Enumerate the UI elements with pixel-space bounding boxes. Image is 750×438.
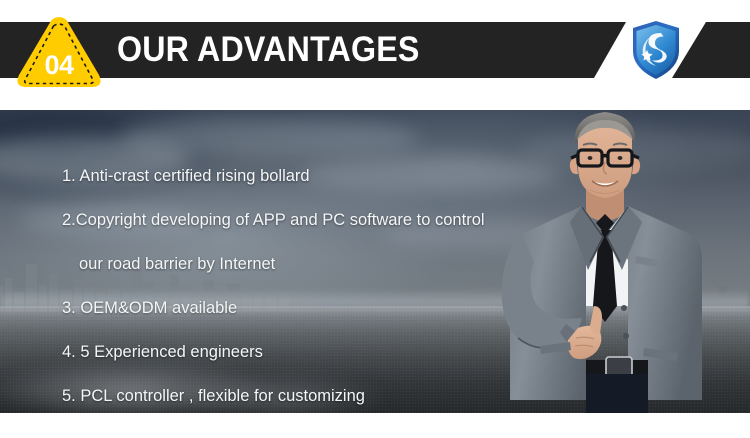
advantages-banner: OUR ADVANTAGES 04: [0, 0, 750, 438]
banner-header: OUR ADVANTAGES 04: [0, 0, 750, 110]
cloud-streak: [120, 118, 420, 158]
badge-number-text: 04: [14, 13, 104, 89]
advantages-list: 1. Anti-crast certified rising bollard 2…: [62, 154, 532, 413]
header-black-shard: [672, 22, 750, 78]
section-number-badge: 04: [14, 13, 104, 89]
list-item: 4. 5 Experienced engineers: [62, 330, 532, 374]
list-item: our road barrier by Internet: [62, 242, 532, 286]
company-shield-logo-icon: [630, 19, 682, 81]
list-item: 2.Copyright developing of APP and PC sof…: [62, 198, 532, 242]
list-item: 1. Anti-crast certified rising bollard: [62, 154, 532, 198]
banner-photo-area: 1. Anti-crast certified rising bollard 2…: [0, 110, 750, 413]
list-item: 5. PCL controller , flexible for customi…: [62, 374, 532, 413]
list-item: 3. OEM&ODM available: [62, 286, 532, 330]
page-title: OUR ADVANTAGES: [117, 22, 420, 78]
